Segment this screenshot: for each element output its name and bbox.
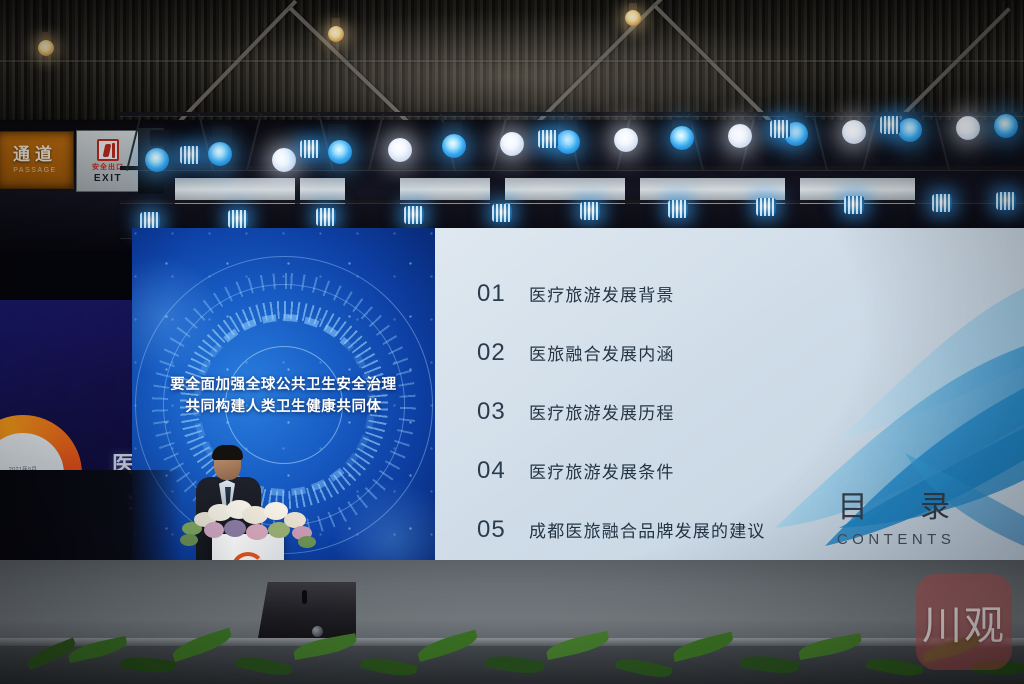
plant-leaf (797, 633, 863, 660)
agenda-item[interactable]: 01 医疗旅游发展背景 (477, 280, 766, 308)
agenda-label: 成都医旅融合品牌发展的建议 (529, 517, 766, 542)
stage-lighting-truss (120, 104, 1024, 240)
agenda-item[interactable]: 03 医疗旅游发展历程 (477, 398, 766, 426)
watermark-text: 川观 (922, 593, 1006, 651)
stage-lamp-white (272, 148, 296, 172)
flower-petal (204, 522, 224, 538)
screen-contents-panel: 01 医疗旅游发展背景 02 医旅融合发展内涵 03 医疗旅游发展历程 04 医… (435, 228, 1024, 582)
contents-heading-en: CONTENTS (816, 531, 972, 548)
flower-petal (180, 534, 198, 546)
truss-bar-mid (120, 166, 1024, 170)
flower-petal (224, 520, 246, 537)
led-wash-panel (770, 120, 790, 138)
led-wash-panel (996, 192, 1016, 210)
stage-lamp-blue (670, 126, 694, 150)
agenda-number: 02 (477, 339, 529, 367)
agenda-label: 医疗旅游发展条件 (529, 458, 675, 483)
ceiling-bulb (38, 40, 54, 56)
plant-leaf (615, 654, 673, 681)
agenda-item[interactable]: 04 医疗旅游发展条件 (477, 457, 766, 485)
flower-arrangement (178, 496, 318, 552)
plant-leaf (360, 654, 418, 679)
stage-lamp-white (500, 132, 524, 156)
led-wash-panel (180, 146, 200, 164)
agenda-number: 05 (477, 516, 529, 544)
lamp-housing (328, 124, 348, 140)
passage-sign: 通道 PASSAGE (0, 131, 74, 189)
flower-petal (298, 536, 316, 548)
agenda-item[interactable]: 02 医旅融合发展内涵 (477, 339, 766, 367)
passage-sign-en: PASSAGE (13, 167, 56, 174)
agenda-number: 01 (477, 280, 529, 308)
led-wash-panel (404, 206, 424, 224)
truss-brace (246, 114, 262, 171)
led-wash-panel (228, 210, 248, 228)
contents-heading-zh: 目 录 (816, 491, 972, 524)
stage-lamp-blue (556, 130, 580, 154)
bulb-cord (335, 0, 338, 18)
led-wash-panel (492, 204, 512, 222)
stage-lamp-white (842, 120, 866, 144)
lamp-housing (150, 130, 170, 146)
truss-brace (812, 114, 828, 171)
led-wash-panel (756, 198, 776, 216)
agenda-number: 04 (477, 457, 529, 485)
plant-leaf (671, 631, 735, 662)
truss-brace (862, 114, 878, 171)
stage-lamp-blue (898, 118, 922, 142)
exit-sign-en: EXIT (94, 173, 122, 184)
contents-heading-block: 目 录 CONTENTS (816, 491, 972, 548)
blue-panel-headline: 要全面加强全球公共卫生安全治理 共同构建人类卫生健康共同体 (132, 374, 435, 418)
truss-brace (934, 114, 950, 171)
plant-leaf (866, 654, 924, 679)
bulb-cord (45, 0, 48, 32)
stage-lamp-white (614, 128, 638, 152)
led-wash-panel (538, 130, 558, 148)
stage-lamp-white (388, 138, 412, 162)
agenda-label: 医旅融合发展内涵 (529, 340, 675, 365)
plant-leaf (292, 633, 358, 660)
agenda-number: 03 (477, 398, 529, 426)
led-wash-panel (668, 200, 688, 218)
stage-lamp-blue (442, 134, 466, 158)
plant-leaf (485, 652, 545, 677)
led-wash-panel (880, 116, 900, 134)
led-wash-panel (932, 194, 952, 212)
led-wash-panel (316, 208, 336, 226)
headline-line-2: 共同构建人类卫生健康共同体 (140, 396, 427, 418)
ceiling-bulb (625, 10, 641, 26)
truss-brace (126, 114, 142, 171)
truss-brace (368, 114, 384, 171)
stage-lamp-blue (208, 142, 232, 166)
conference-stage-photo: 通道 PASSAGE 安全出口 EXIT (0, 0, 1024, 684)
agenda-item[interactable]: 05 成都医旅融合品牌发展的建议 (477, 516, 766, 544)
led-wash-panel (844, 196, 864, 214)
stage-monitor-speaker (258, 582, 356, 638)
ceiling-bulb (328, 26, 344, 42)
stage-plants-row (0, 636, 1024, 684)
led-wash-panel (300, 140, 320, 158)
led-wash-panel (580, 202, 600, 220)
stage-lamp-white (728, 124, 752, 148)
agenda-label: 医疗旅游发展历程 (529, 399, 675, 424)
agenda-label: 医疗旅游发展背景 (529, 281, 675, 306)
running-man-icon (97, 139, 119, 161)
passage-sign-zh: 通道 (13, 146, 57, 163)
flower-petal (246, 524, 268, 540)
headline-line-1: 要全面加强全球公共卫生安全治理 (140, 374, 427, 396)
plant-leaf (740, 652, 800, 677)
channel-watermark: 川观 (916, 574, 1012, 670)
speaker-port (302, 590, 307, 604)
stage-lamp-blue (328, 140, 352, 164)
stage-lamp-blue (994, 114, 1018, 138)
plant-leaf (235, 652, 293, 679)
stage-lamp-blue (145, 148, 169, 172)
plant-leaf (67, 636, 129, 663)
speaker-hair (212, 445, 243, 460)
truss-bar-lower (120, 200, 1024, 203)
lamp-housing (212, 126, 232, 142)
plant-leaf (120, 654, 176, 676)
agenda-list: 01 医疗旅游发展背景 02 医旅融合发展内涵 03 医疗旅游发展历程 04 医… (477, 280, 766, 575)
ceiling-truss-horizontal (0, 60, 1024, 62)
stage-lamp-white (956, 116, 980, 140)
plant-leaf (545, 631, 611, 660)
